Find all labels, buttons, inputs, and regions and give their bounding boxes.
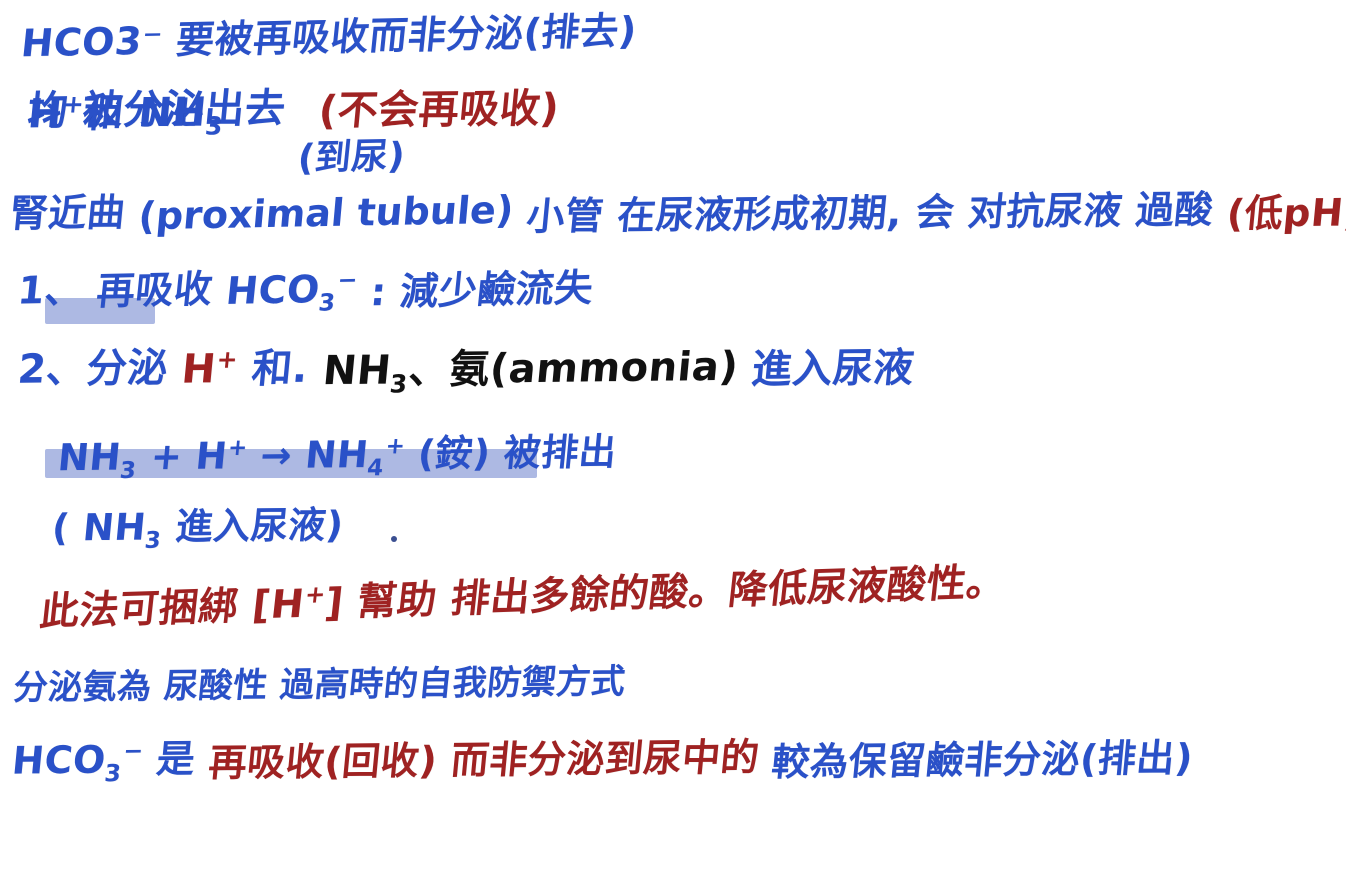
note-line-4-segment-red-ph: (低pH) [1225,193,1346,232]
note-line-11-formula: HCO3− 是 [10,739,197,787]
note-line-4: 腎近曲 (proximal tubule) 小管 在尿液形成初期, 会 对抗尿液… [10,194,1346,232]
note-line-8-text: ( NH3 進入尿液) [50,506,345,553]
note-line-3-text: (到尿) [296,139,407,177]
note-line-3: (到尿) [298,140,405,176]
note-line-6-number-and-verb: 2、分泌 [16,349,170,391]
note-line-2-formula-text: H+和 NH3 [26,91,227,141]
note-line-4-segment-chinese-mid: 小管 在尿液形成初期, 会 对抗尿液 過酸 [525,190,1215,235]
note-line-1-text: HCO3⁻ 要被再吸收而非分泌(排去) [19,12,638,63]
handwritten-note-page: HCO3⁻ 要被再吸收而非分泌(排去) 均 被分泌出去 (不会再吸收) H+和 … [0,0,1346,870]
note-line-9-text: 此法可捆綁 [H+] 幫助 排出多餘的酸。降低尿液酸性。 [38,561,1009,632]
note-line-2-red-annotation: (不会再吸收) [317,89,561,132]
note-line-5-formula: HCO3− [224,269,360,318]
note-line-10-text: 分泌氨為 尿酸性 過高時的自我防禦方式 [12,665,627,705]
note-line-4-segment-chinese-lead: 腎近曲 [8,193,127,232]
note-line-2-formula: H+和 NH3 [28,92,224,140]
note-line-6-destination: 進入尿液 [750,348,916,390]
note-line-10: 分泌氨為 尿酸性 過高時的自我防禦方式 [14,668,625,702]
note-line-7-equation-text: NH3 + H+ → NH4+ (銨) 被排出 [56,433,619,483]
note-line-6-conjunction: 和. [250,349,310,390]
note-line-8: ( NH3 進入尿液) [52,508,343,552]
note-line-7-equation: NH3 + H+ → NH4+ (銨) 被排出 [58,436,616,481]
note-line-4-segment-latin-proximal-tubule: (proximal tubule) [137,191,515,236]
note-line-5-explanation: : 減少鹼流失 [369,268,595,311]
note-line-5: 1、 再吸收 HCO3− : 減少鹼流失 [18,270,593,316]
note-line-11-red-clause: 再吸收(回收) 而非分泌到尿中的 [207,738,761,782]
note-line-6-proton: H+ [180,348,239,390]
note-line-1: HCO3⁻ 要被再吸收而非分泌(排去) [22,18,636,56]
note-line-11: HCO3− 是 再吸收(回收) 而非分泌到尿中的 較為保留鹼非分泌(排出) [12,740,1193,786]
note-line-11-blue-clause: 較為保留鹼非分泌(排出) [770,738,1195,780]
note-line-6-ammonia-term: NH3、氨(ammonia) [320,347,740,398]
note-line-5-number: 1、 [16,270,85,309]
note-line-6: 2、分泌 H+ 和. NH3、氨(ammonia) 進入尿液 [18,348,914,396]
note-line-5-highlighted-term: 再吸收 [95,269,215,309]
note-line-9: 此法可捆綁 [H+] 幫助 排出多餘的酸。降低尿液酸性。 [42,576,1004,617]
stray-ink-dot [391,536,397,542]
